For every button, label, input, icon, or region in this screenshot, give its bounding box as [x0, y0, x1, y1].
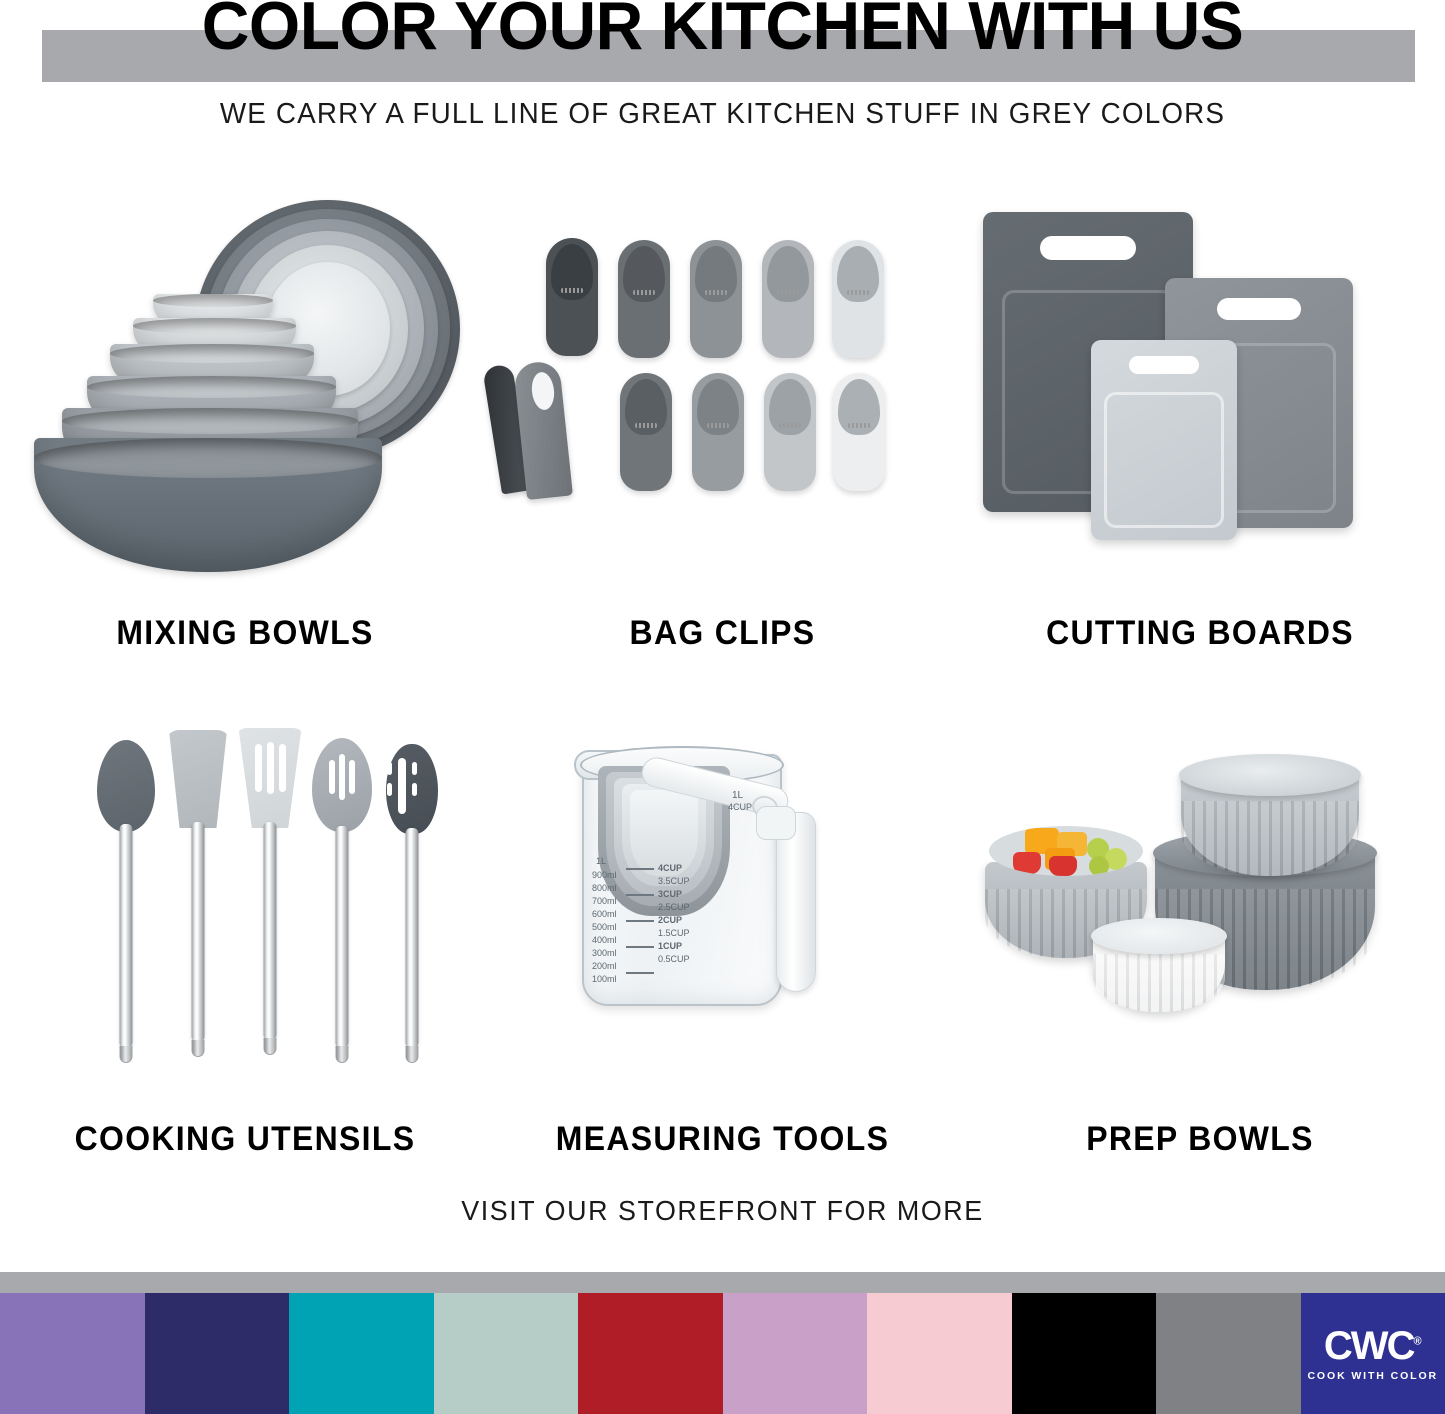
- brand-logo-mark: CWC®: [1324, 1326, 1422, 1366]
- jug-mark-left-3: 700ml: [592, 896, 617, 906]
- cutting-board-small: [1091, 340, 1237, 540]
- fruit-pile: [989, 826, 1143, 876]
- jug-mark-left-1: 900ml: [592, 870, 617, 880]
- jug-mark-left-5: 500ml: [592, 922, 617, 932]
- fruit-strawberry-2: [1049, 856, 1077, 876]
- clip-ring: [625, 379, 667, 435]
- swatch-grey[interactable]: [1156, 1293, 1301, 1414]
- bag-clip-6: [620, 373, 672, 491]
- jug-mark-left-8: 200ml: [592, 961, 617, 971]
- slotted-spoon-slot-3: [349, 760, 355, 794]
- swatch-crimson[interactable]: [578, 1293, 723, 1414]
- color-swatch-strip: CWC® COOK WITH COLOR: [0, 1293, 1445, 1414]
- jug-tick-0: [626, 868, 654, 870]
- brand-logo-text: CWC: [1324, 1324, 1414, 1368]
- prep-bowls-photo: [965, 720, 1435, 1090]
- bag-clip-5: [832, 240, 884, 358]
- product-cell-cooking-utensils[interactable]: COOKING UTENSILS: [10, 720, 480, 1120]
- clip-ring: [838, 379, 880, 435]
- slotted-spoon-slot-2: [339, 754, 345, 800]
- jug-mark-left-4: 600ml: [592, 909, 617, 919]
- pasta-server-tooth-gap-r2: [412, 783, 417, 796]
- pasta-server-center-slot: [398, 758, 406, 814]
- product-label-cutting-boards: CUTTING BOARDS: [979, 614, 1421, 653]
- pasta-server-tooth-gap-l2: [387, 783, 392, 796]
- jug-mark-right-3: 2.5CUP: [658, 902, 690, 912]
- jug-mark-right-0: 4CUP: [658, 863, 682, 873]
- fruit-strawberry-1: [1013, 852, 1041, 874]
- utensil-spatula: [162, 730, 234, 1070]
- jug-mark-right-2: 3CUP: [658, 889, 682, 899]
- jug-tick-2: [626, 920, 654, 922]
- cooking-utensils-photo: [10, 720, 480, 1090]
- utensil-handle: [120, 824, 133, 1048]
- jug-mark-right-7: 0.5CUP: [658, 954, 690, 964]
- bowl-rim: [87, 376, 336, 398]
- turner-slot-1: [255, 744, 262, 792]
- jug-tick-1: [626, 894, 654, 896]
- page-title: COLOR YOUR KITCHEN WITH US: [22, 0, 1424, 60]
- clip-ring: [767, 246, 809, 302]
- clip-ring: [697, 379, 739, 435]
- jug-mark-right-1: 3.5CUP: [658, 876, 690, 886]
- utensil-handle: [336, 826, 349, 1048]
- prep-lid-medium-grey: [1179, 754, 1361, 796]
- bag-clip-2: [618, 240, 670, 358]
- jug-mark-left-0: 1L: [596, 856, 606, 866]
- product-cell-cutting-boards[interactable]: CUTTING BOARDS: [965, 190, 1435, 590]
- utensil-tip: [120, 1046, 133, 1063]
- bowl-rim: [62, 408, 358, 434]
- product-label-cooking-utensils: COOKING UTENSILS: [24, 1120, 466, 1159]
- registered-trademark-icon: ®: [1413, 1335, 1421, 1347]
- header: COLOR YOUR KITCHEN WITH US WE CARRY A FU…: [0, 0, 1445, 150]
- jug-tick-4: [626, 972, 654, 974]
- utensil-pasta-server: [376, 744, 448, 1070]
- storefront-note: VISIT OUR STOREFRONT FOR MORE: [29, 1195, 1416, 1227]
- utensil-slotted-turner: [234, 728, 306, 1070]
- product-label-bag-clips: BAG CLIPS: [495, 614, 951, 653]
- utensil-tip: [264, 1038, 277, 1055]
- product-label-mixing-bowls: MIXING BOWLS: [24, 614, 466, 653]
- cutting-boards-photo: [965, 190, 1435, 580]
- product-cell-measuring-tools[interactable]: 1L 4CUP 1L 900ml 800ml 700ml 600ml 500ml…: [480, 720, 965, 1120]
- utensil-handle: [192, 822, 205, 1042]
- brand-logo-tagline: COOK WITH COLOR: [1307, 1370, 1438, 1382]
- prep-lid-small-white: [1091, 918, 1227, 954]
- swatch-brand-logo[interactable]: CWC® COOK WITH COLOR: [1301, 1293, 1445, 1414]
- jug-mark-1L-top: 1L: [732, 790, 743, 801]
- turner-slot-2: [267, 742, 274, 794]
- swatch-teal[interactable]: [289, 1293, 434, 1414]
- clip-ring: [769, 379, 811, 435]
- product-label-measuring-tools: MEASURING TOOLS: [495, 1120, 951, 1159]
- bag-clip-7: [692, 373, 744, 491]
- swatch-navy[interactable]: [145, 1293, 290, 1414]
- fruit-grape-3: [1089, 856, 1109, 876]
- jug-mark-4cup-top: 4CUP: [728, 802, 752, 812]
- utensil-tip: [192, 1040, 205, 1057]
- board-groove: [1104, 392, 1224, 528]
- utensil-handle: [406, 828, 419, 1048]
- swatch-blush[interactable]: [867, 1293, 1012, 1414]
- swatch-sage[interactable]: [434, 1293, 579, 1414]
- bowl-1-large: [34, 438, 382, 572]
- bowl-rim: [133, 318, 296, 334]
- clip-ring: [551, 244, 593, 300]
- swatch-purple[interactable]: [0, 1293, 145, 1414]
- footer-grey-bar: [0, 1272, 1445, 1293]
- jug-mark-left-9: 100ml: [592, 974, 617, 984]
- utensil-tip: [336, 1046, 349, 1063]
- board-handle: [1217, 298, 1301, 320]
- utensil-slotted-spoon: [306, 738, 378, 1070]
- product-cell-prep-bowls[interactable]: PREP BOWLS: [965, 720, 1435, 1120]
- bag-clip-8: [764, 373, 816, 491]
- mixing-bowls-photo: [10, 190, 480, 580]
- bag-clips-photo: [480, 190, 965, 580]
- clip-ring: [837, 246, 879, 302]
- utensil-handle: [264, 822, 277, 1040]
- jug-mark-right-6: 1CUP: [658, 941, 682, 951]
- clip-ring: [695, 246, 737, 302]
- jug-tick-3: [626, 946, 654, 948]
- product-label-prep-bowls: PREP BOWLS: [979, 1120, 1421, 1159]
- clip-ring: [623, 246, 665, 302]
- jug-mark-left-2: 800ml: [592, 883, 617, 893]
- spoon-head: [97, 740, 155, 832]
- jug-mark-left-7: 300ml: [592, 948, 617, 958]
- bag-clip-3: [690, 240, 742, 358]
- bag-clip-1: [546, 238, 598, 356]
- board-handle: [1129, 356, 1199, 374]
- bag-clip-4: [762, 240, 814, 358]
- bag-clip-9: [833, 373, 885, 491]
- infographic-page: COLOR YOUR KITCHEN WITH US WE CARRY A FU…: [0, 0, 1445, 1414]
- jug-mark-right-4: 2CUP: [658, 915, 682, 925]
- swatch-orchid[interactable]: [723, 1293, 868, 1414]
- jug-mark-right-5: 1.5CUP: [658, 928, 690, 938]
- measuring-tools-photo: 1L 4CUP 1L 900ml 800ml 700ml 600ml 500ml…: [480, 720, 965, 1090]
- pasta-server-tooth-gap-l: [387, 762, 392, 775]
- page-subtitle: WE CARRY A FULL LINE OF GREAT KITCHEN ST…: [29, 98, 1416, 131]
- turner-slot-3: [279, 744, 286, 792]
- spatula-head: [165, 730, 231, 828]
- jug-handle-top-link: [756, 806, 796, 840]
- jug-mark-left-6: 400ml: [592, 935, 617, 945]
- bowl-rim: [34, 438, 382, 478]
- utensil-spoon: [90, 740, 162, 1070]
- slotted-spoon-slot-1: [329, 760, 335, 794]
- bowl-rim: [110, 344, 314, 363]
- brand-logo: CWC® COOK WITH COLOR: [1301, 1293, 1445, 1414]
- bowl-ribs: [1093, 954, 1225, 1012]
- bowl-rim: [153, 294, 273, 307]
- pasta-server-tooth-gap-r: [412, 762, 417, 775]
- board-handle: [1040, 236, 1136, 260]
- product-grid: MIXING BOWLS: [0, 160, 1445, 1180]
- product-cell-mixing-bowls[interactable]: MIXING BOWLS: [10, 190, 480, 590]
- swatch-black[interactable]: [1012, 1293, 1157, 1414]
- product-cell-bag-clips[interactable]: BAG CLIPS: [480, 190, 965, 590]
- utensil-tip: [406, 1046, 419, 1063]
